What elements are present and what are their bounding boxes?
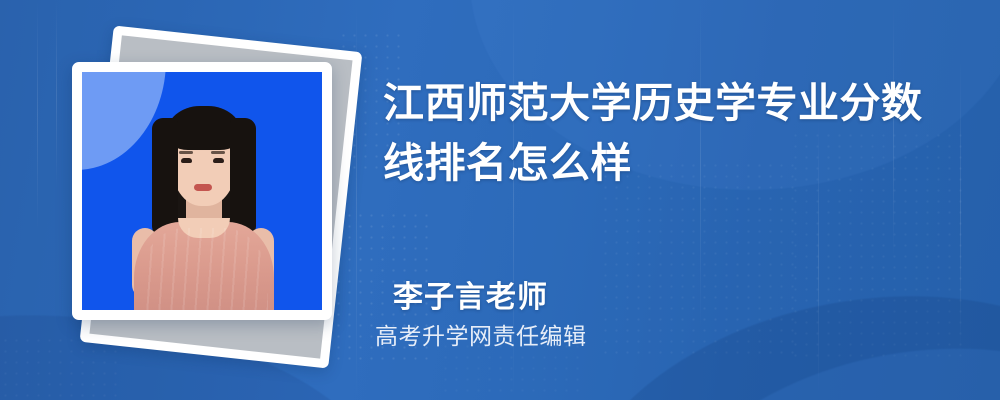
banner-text-column: 江西师范大学历史学专业分数线排名怎么样 李子言老师 高考升学网责任编辑 [374,0,974,400]
author-name: 李子言老师 [393,272,548,316]
page-title: 江西师范大学历史学专业分数线排名怎么样 [383,73,963,193]
author-portrait [82,72,322,310]
article-header-banner: 江西师范大学历史学专业分数线排名怎么样 李子言老师 高考升学网责任编辑 [0,0,1000,400]
dot-matrix-pattern [0,335,120,400]
portrait-hair-right [230,118,256,236]
portrait-mouth [194,184,212,191]
portrait-eye-right [213,158,224,163]
author-role: 高考升学网责任编辑 [375,317,587,351]
portrait-eyebrow-left [179,151,193,154]
light-streak [56,0,57,190]
portrait-hair-left [152,118,178,236]
portrait-eye-left [181,158,192,163]
portrait-eyebrow-right [211,151,225,154]
photo-card-front [72,62,332,320]
portrait-dress-folds [140,228,268,318]
light-streak [37,0,38,230]
